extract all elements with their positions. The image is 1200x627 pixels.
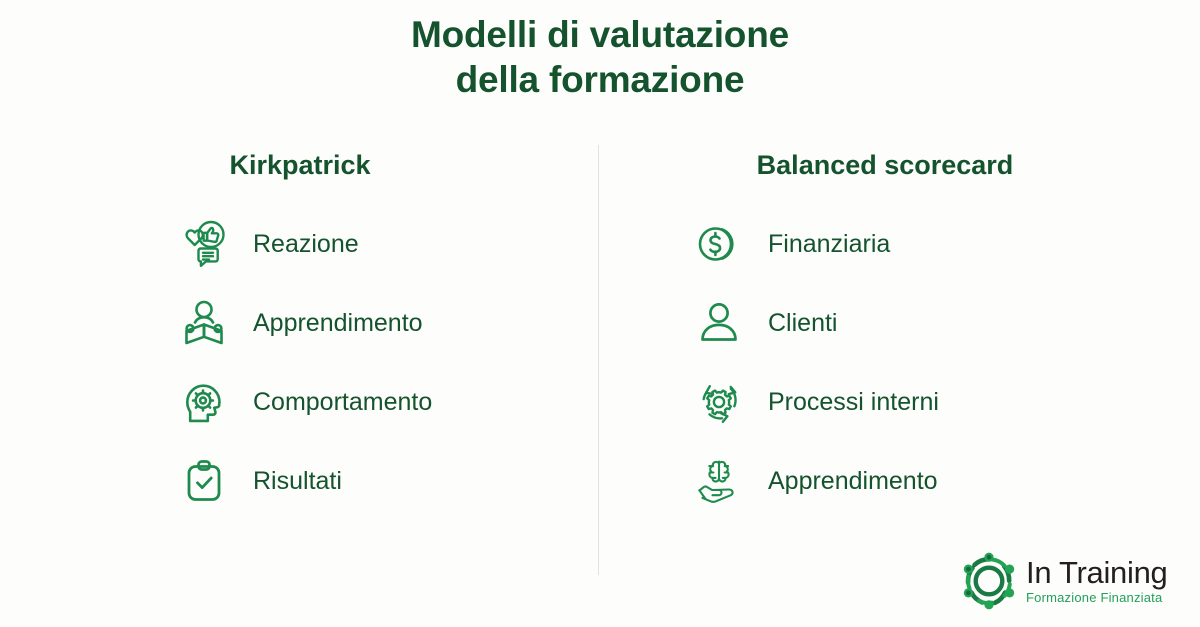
list-item: Apprendimento: [640, 441, 1160, 520]
brand-name: In Training: [1026, 556, 1167, 589]
balanced-scorecard-list: Finanziaria Clienti: [640, 204, 1160, 520]
brand-logo: In Training Formazione Finanziata: [958, 548, 1188, 614]
list-item-label: Reazione: [253, 229, 359, 259]
column-divider: [598, 145, 599, 575]
list-item: Processi interni: [640, 362, 1160, 441]
page-title-line-1: Modelli di valutazione: [0, 12, 1200, 57]
list-item-label: Comportamento: [253, 387, 432, 417]
brand-tagline: Formazione Finanziata: [1026, 590, 1167, 606]
list-item-label: Apprendimento: [768, 466, 938, 496]
brand-logo-text: In Training Formazione Finanziata: [1026, 556, 1167, 606]
page-title-line-2: della formazione: [0, 57, 1200, 102]
column-heading-balanced-scorecard: Balanced scorecard: [640, 148, 1160, 182]
infographic-page: Modelli di valutazione della formazione …: [0, 0, 1200, 627]
dollar-coins-icon: [690, 215, 748, 273]
list-item-label: Risultati: [253, 466, 342, 496]
list-item: Finanziaria: [640, 204, 1160, 283]
kirkpatrick-list: Reazione Apprendimento: [60, 204, 580, 520]
page-title: Modelli di valutazione della formazione: [0, 12, 1200, 102]
gear-refresh-icon: [690, 373, 748, 431]
hand-brain-icon: [690, 452, 748, 510]
list-item: Risultati: [60, 441, 580, 520]
circle-people-ring-icon: [958, 550, 1020, 612]
list-item-label: Clienti: [768, 308, 837, 338]
person-icon: [690, 294, 748, 352]
list-item: Comportamento: [60, 362, 580, 441]
list-item-label: Apprendimento: [253, 308, 423, 338]
list-item: Reazione: [60, 204, 580, 283]
column-balanced-scorecard: Balanced scorecard Finanziaria: [640, 148, 1160, 520]
head-gear-icon: [175, 373, 233, 431]
thumbs-up-feedback-icon: [175, 215, 233, 273]
list-item: Apprendimento: [60, 283, 580, 362]
column-kirkpatrick: Kirkpatrick Reazione: [60, 148, 580, 520]
person-reading-book-icon: [175, 294, 233, 352]
list-item-label: Processi interni: [768, 387, 939, 417]
list-item: Clienti: [640, 283, 1160, 362]
clipboard-check-icon: [175, 452, 233, 510]
list-item-label: Finanziaria: [768, 229, 890, 259]
column-heading-kirkpatrick: Kirkpatrick: [60, 148, 580, 182]
